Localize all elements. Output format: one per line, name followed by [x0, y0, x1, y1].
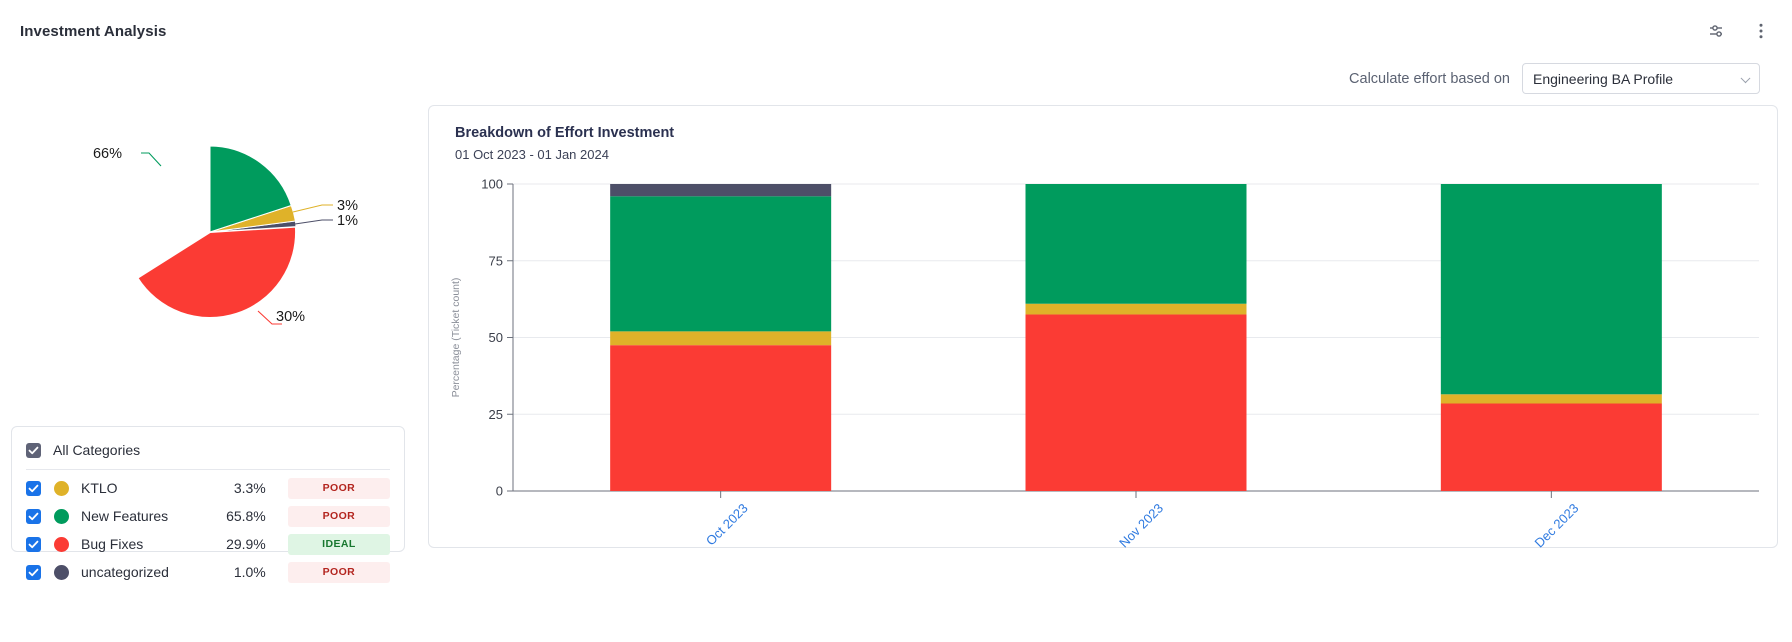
pie-leader-uncategorized: [295, 220, 333, 224]
bar-segment-uncategorized[interactable]: [610, 184, 831, 196]
legend-status-badge-bug-fixes: IDEAL: [288, 534, 390, 555]
legend-checkbox-new-features[interactable]: [26, 509, 41, 524]
legend-label-ktlo: KTLO: [81, 480, 210, 496]
top-actions: [1704, 18, 1774, 44]
x-tick-label[interactable]: Oct 2023: [703, 501, 751, 549]
legend-label-uncategorized: uncategorized: [81, 564, 210, 580]
bar-segment-new-features[interactable]: [1441, 184, 1662, 394]
y-tick-label: 75: [489, 253, 503, 268]
legend-percent-new-features: 65.8%: [210, 508, 266, 524]
sliders-icon[interactable]: [1704, 18, 1730, 44]
legend-color-dot-new-features: [54, 509, 69, 524]
bar-segment-new-features[interactable]: [610, 196, 831, 331]
pie-label-uncategorized: 1%: [337, 213, 358, 229]
legend-status-badge-uncategorized: POOR: [288, 562, 390, 583]
effort-basis-label: Calculate effort based on: [1349, 71, 1510, 87]
legend-checkbox-ktlo[interactable]: [26, 481, 41, 496]
legend-divider: [26, 469, 390, 470]
effort-profile-select[interactable]: Engineering BA Profile: [1522, 63, 1760, 94]
legend-percent-ktlo: 3.3%: [210, 480, 266, 496]
legend-all-categories-row[interactable]: All Categories: [26, 437, 390, 463]
bar-segment-bug-fixes[interactable]: [1026, 314, 1247, 491]
bar-segment-ktlo[interactable]: [1026, 304, 1247, 315]
legend-item-uncategorized[interactable]: uncategorized 1.0% POOR: [26, 558, 390, 586]
page-title: Investment Analysis: [20, 23, 166, 40]
pie-label-ktlo: 3%: [337, 198, 358, 214]
all-categories-checkbox[interactable]: [26, 443, 41, 458]
legend-item-ktlo[interactable]: KTLO 3.3% POOR: [26, 474, 390, 502]
y-tick-label: 100: [481, 177, 503, 192]
bar-segment-ktlo[interactable]: [1441, 394, 1662, 403]
legend-label-new-features: New Features: [81, 508, 210, 524]
x-tick-label[interactable]: Nov 2023: [1116, 501, 1166, 549]
legend-color-dot-bug-fixes: [54, 537, 69, 552]
bar-segment-bug-fixes[interactable]: [610, 345, 831, 491]
investment-pie-chart: 66% 3% 1% 30%: [10, 108, 410, 368]
more-vertical-icon[interactable]: [1748, 18, 1774, 44]
legend-item-bug-fixes[interactable]: Bug Fixes 29.9% IDEAL: [26, 530, 390, 558]
y-tick-label: 0: [496, 484, 503, 499]
legend-percent-uncategorized: 1.0%: [210, 564, 266, 580]
legend-percent-bug-fixes: 29.9%: [210, 536, 266, 552]
stacked-bar-plot: 0255075100Percentage (Ticket count)Oct 2…: [429, 106, 1779, 549]
y-tick-label: 25: [489, 407, 503, 422]
top-bar: Investment Analysis: [0, 0, 1792, 58]
y-tick-label: 50: [489, 330, 503, 345]
pie-label-bug-fixes: 30%: [276, 309, 305, 325]
bar-segment-ktlo[interactable]: [610, 331, 831, 345]
chevron-down-icon: [1741, 73, 1751, 83]
pie-leader-new-features: [141, 153, 161, 166]
x-tick-label[interactable]: Dec 2023: [1531, 501, 1581, 549]
pie-slices: [137, 146, 296, 318]
bar-segment-new-features[interactable]: [1026, 184, 1247, 304]
legend-checkbox-uncategorized[interactable]: [26, 565, 41, 580]
legend-label-bug-fixes: Bug Fixes: [81, 536, 210, 552]
legend-status-badge-new-features: POOR: [288, 506, 390, 527]
effort-breakdown-card: Breakdown of Effort Investment 01 Oct 20…: [428, 105, 1778, 548]
legend-color-dot-ktlo: [54, 481, 69, 496]
pie-wedge-bug-fixes-2[interactable]: [137, 227, 296, 318]
category-legend-card: All Categories KTLO 3.3% POOR New Featur…: [11, 426, 405, 552]
pie-svg: 66% 3% 1% 30%: [10, 108, 410, 368]
bar-segment-bug-fixes[interactable]: [1441, 404, 1662, 491]
legend-checkbox-bug-fixes[interactable]: [26, 537, 41, 552]
y-axis-label: Percentage (Ticket count): [450, 278, 462, 398]
effort-basis-control: Calculate effort based on Engineering BA…: [1349, 63, 1760, 94]
legend-status-badge-ktlo: POOR: [288, 478, 390, 499]
effort-profile-value: Engineering BA Profile: [1533, 71, 1673, 87]
legend-item-new-features[interactable]: New Features 65.8% POOR: [26, 502, 390, 530]
pie-label-new-features: 66%: [93, 146, 122, 162]
all-categories-label: All Categories: [53, 442, 140, 458]
legend-color-dot-uncategorized: [54, 565, 69, 580]
pie-leader-ktlo: [293, 205, 333, 212]
